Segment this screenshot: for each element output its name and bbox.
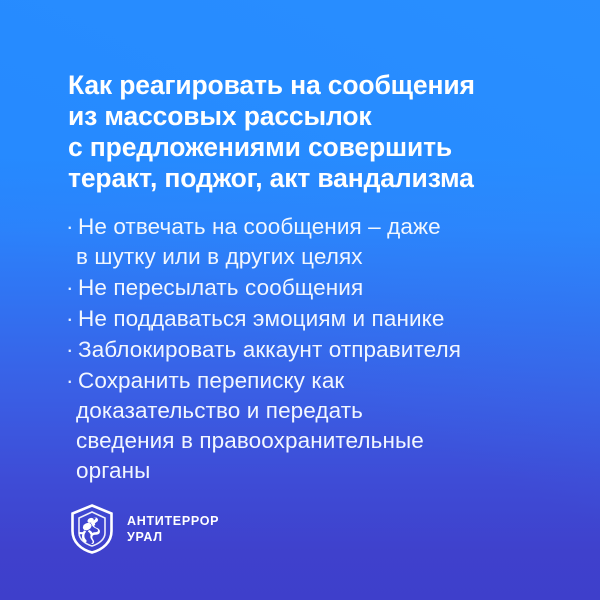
brand-name-line-2: УРАЛ: [127, 529, 219, 545]
list-item-text: Не поддаваться эмоциям и панике: [78, 304, 566, 334]
brand-logo-text: АНТИТЕРРОР УРАЛ: [127, 513, 219, 545]
list-item: · Не поддаваться эмоциям и панике: [66, 304, 566, 334]
list-item-text: Сохранить переписку как доказательство и…: [78, 366, 566, 486]
bullet-marker-icon: ·: [66, 304, 74, 334]
bullet-marker-icon: ·: [66, 273, 74, 303]
bullet-marker-icon: ·: [66, 335, 74, 365]
list-item: · Не пересылать сообщения: [66, 273, 566, 303]
list-item-text: Заблокировать аккаунт отправителя: [78, 335, 566, 365]
list-item-line: Заблокировать аккаунт отправителя: [78, 335, 566, 365]
shield-with-lizard-icon: [70, 504, 114, 554]
bullet-marker-icon: ·: [66, 212, 74, 242]
list-item-line: доказательство и передать: [76, 396, 566, 426]
list-item-line: Сохранить переписку как: [78, 366, 566, 396]
brand-name-line-1: АНТИТЕРРОР: [127, 513, 219, 529]
title-line-2: из массовых рассылок: [68, 101, 568, 132]
page-title: Как реагировать на сообщения из массовых…: [68, 70, 568, 194]
bullet-marker-icon: ·: [66, 366, 74, 396]
list-item: · Не отвечать на сообщения – даже в шутк…: [66, 212, 566, 272]
list-item-line: Не отвечать на сообщения – даже: [78, 212, 566, 242]
title-line-4: теракт, поджог, акт вандализма: [68, 163, 568, 194]
brand-logo: АНТИТЕРРОР УРАЛ: [70, 504, 219, 554]
list-item: · Заблокировать аккаунт отправителя: [66, 335, 566, 365]
list-item-line: Не поддаваться эмоциям и панике: [78, 304, 566, 334]
recommendations-list: · Не отвечать на сообщения – даже в шутк…: [66, 212, 566, 487]
list-item-line: органы: [76, 456, 566, 486]
title-line-3: с предложениями совершить: [68, 132, 568, 163]
poster-content: Как реагировать на сообщения из массовых…: [0, 0, 600, 600]
list-item: · Сохранить переписку как доказательство…: [66, 366, 566, 486]
list-item-line: сведения в правоохранительные: [76, 426, 566, 456]
list-item-text: Не отвечать на сообщения – даже в шутку …: [78, 212, 566, 272]
list-item-text: Не пересылать сообщения: [78, 273, 566, 303]
title-line-1: Как реагировать на сообщения: [68, 70, 568, 101]
poster-canvas: Как реагировать на сообщения из массовых…: [0, 0, 600, 600]
list-item-line: Не пересылать сообщения: [78, 273, 566, 303]
list-item-line: в шутку или в других целях: [76, 242, 566, 272]
